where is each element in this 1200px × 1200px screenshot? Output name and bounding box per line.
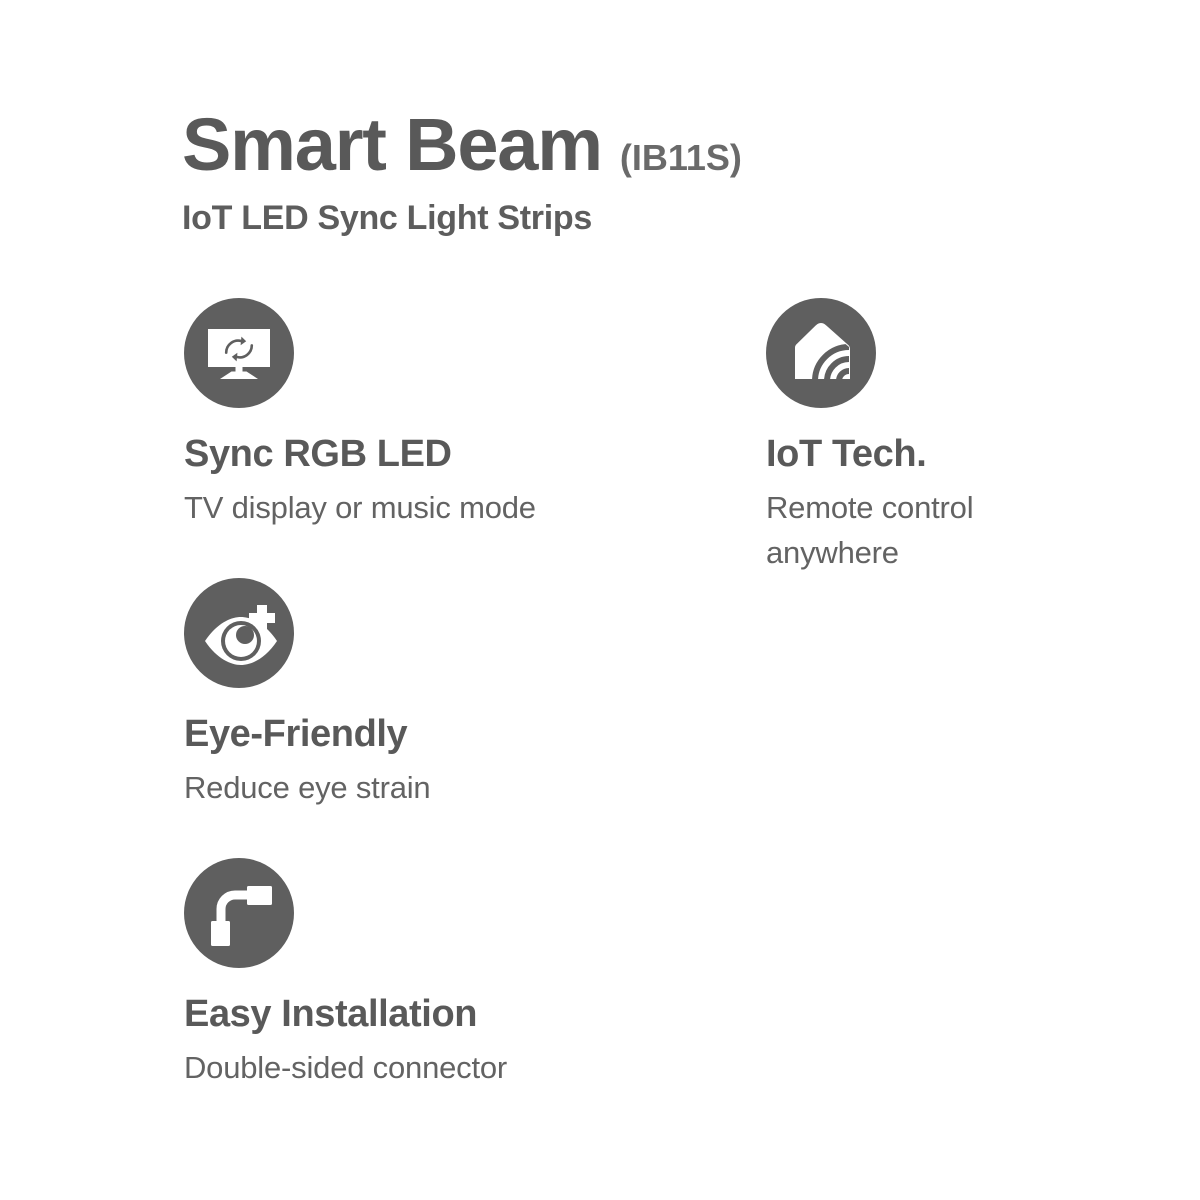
feature-list: Sync RGB LED TV display or music mode <box>0 0 1200 1200</box>
feature-title: IoT Tech. <box>766 434 1066 476</box>
feature-title: Eye-Friendly <box>184 714 654 756</box>
feature-item-easy-installation: Easy Installation Double-sided connector <box>184 858 654 1091</box>
smart-home-wifi-icon <box>766 298 876 408</box>
product-feature-infographic: Smart Beam (IB11S) IoT LED Sync Light St… <box>0 0 1200 1200</box>
cable-connector-icon <box>184 858 294 968</box>
feature-description: Reduce eye strain <box>184 766 654 811</box>
tv-sync-icon <box>184 298 294 408</box>
feature-item-eye-friendly: Eye-Friendly Reduce eye strain <box>184 578 654 811</box>
feature-item-iot-tech: IoT Tech. Remote control anywhere <box>766 298 1066 576</box>
eye-care-plus-icon <box>184 578 294 688</box>
feature-title: Sync RGB LED <box>184 434 654 476</box>
feature-description: TV display or music mode <box>184 486 654 531</box>
feature-item-sync-rgb-led: Sync RGB LED TV display or music mode <box>184 298 654 531</box>
feature-description: Double-sided connector <box>184 1046 654 1091</box>
feature-title: Easy Installation <box>184 994 654 1036</box>
feature-description: Remote control anywhere <box>766 486 1066 576</box>
